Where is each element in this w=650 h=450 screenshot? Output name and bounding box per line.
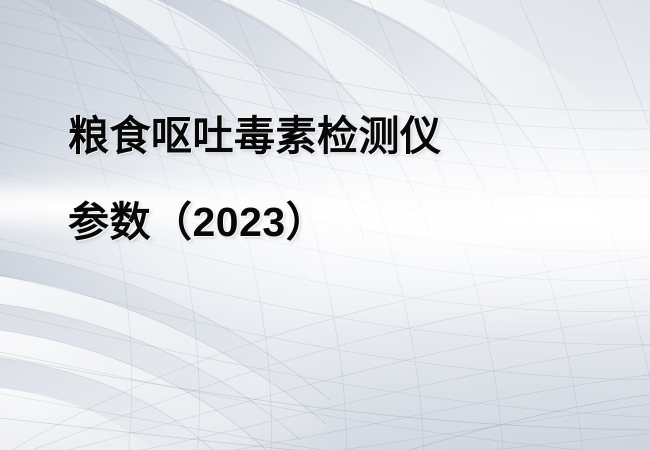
title-line-2: 参数（2023） xyxy=(68,202,588,243)
title-line-1: 粮食呕吐毒素检测仪 xyxy=(68,116,588,157)
product-title-banner: 粮食呕吐毒素检测仪 参数（2023） xyxy=(0,0,650,450)
banner-title: 粮食呕吐毒素检测仪 参数（2023） xyxy=(68,116,588,243)
